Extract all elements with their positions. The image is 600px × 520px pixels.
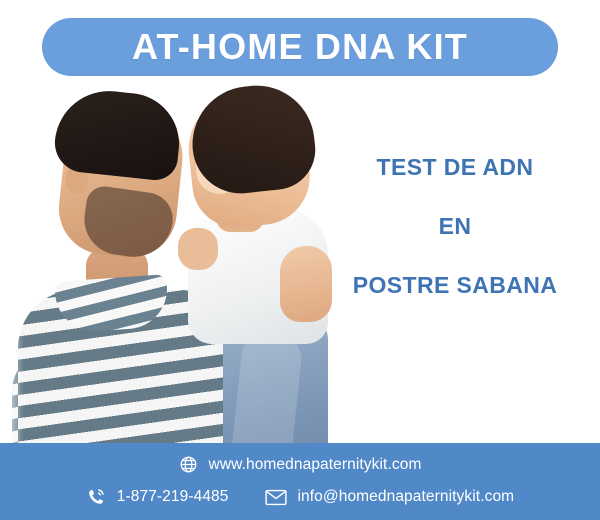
phone-icon <box>86 487 106 507</box>
poster-canvas: AT-HOME DNA KIT TEST DE ADN EN POSTRE SA… <box>0 0 600 520</box>
website-text[interactable]: www.homednapaternitykit.com <box>209 456 422 474</box>
page-title: AT-HOME DNA KIT <box>132 29 468 65</box>
footer-contact-row: 1-877-219-4485 info@homednapaternitykit.… <box>0 487 600 507</box>
man-hair <box>52 86 184 183</box>
footer-website-row: www.homednapaternitykit.com <box>0 455 600 474</box>
header-banner: AT-HOME DNA KIT <box>42 18 558 76</box>
phone-number-text[interactable]: 1-877-219-4485 <box>117 488 229 506</box>
headline-line-3: POSTRE SABANA <box>320 274 590 297</box>
envelope-icon <box>265 489 287 506</box>
headline-line-2: EN <box>320 215 590 238</box>
child-hand <box>178 228 218 270</box>
globe-icon <box>179 455 198 474</box>
headline-block: TEST DE ADN EN POSTRE SABANA <box>320 156 590 297</box>
email-text[interactable]: info@homednapaternitykit.com <box>298 488 515 506</box>
headline-line-1: TEST DE ADN <box>320 156 590 179</box>
